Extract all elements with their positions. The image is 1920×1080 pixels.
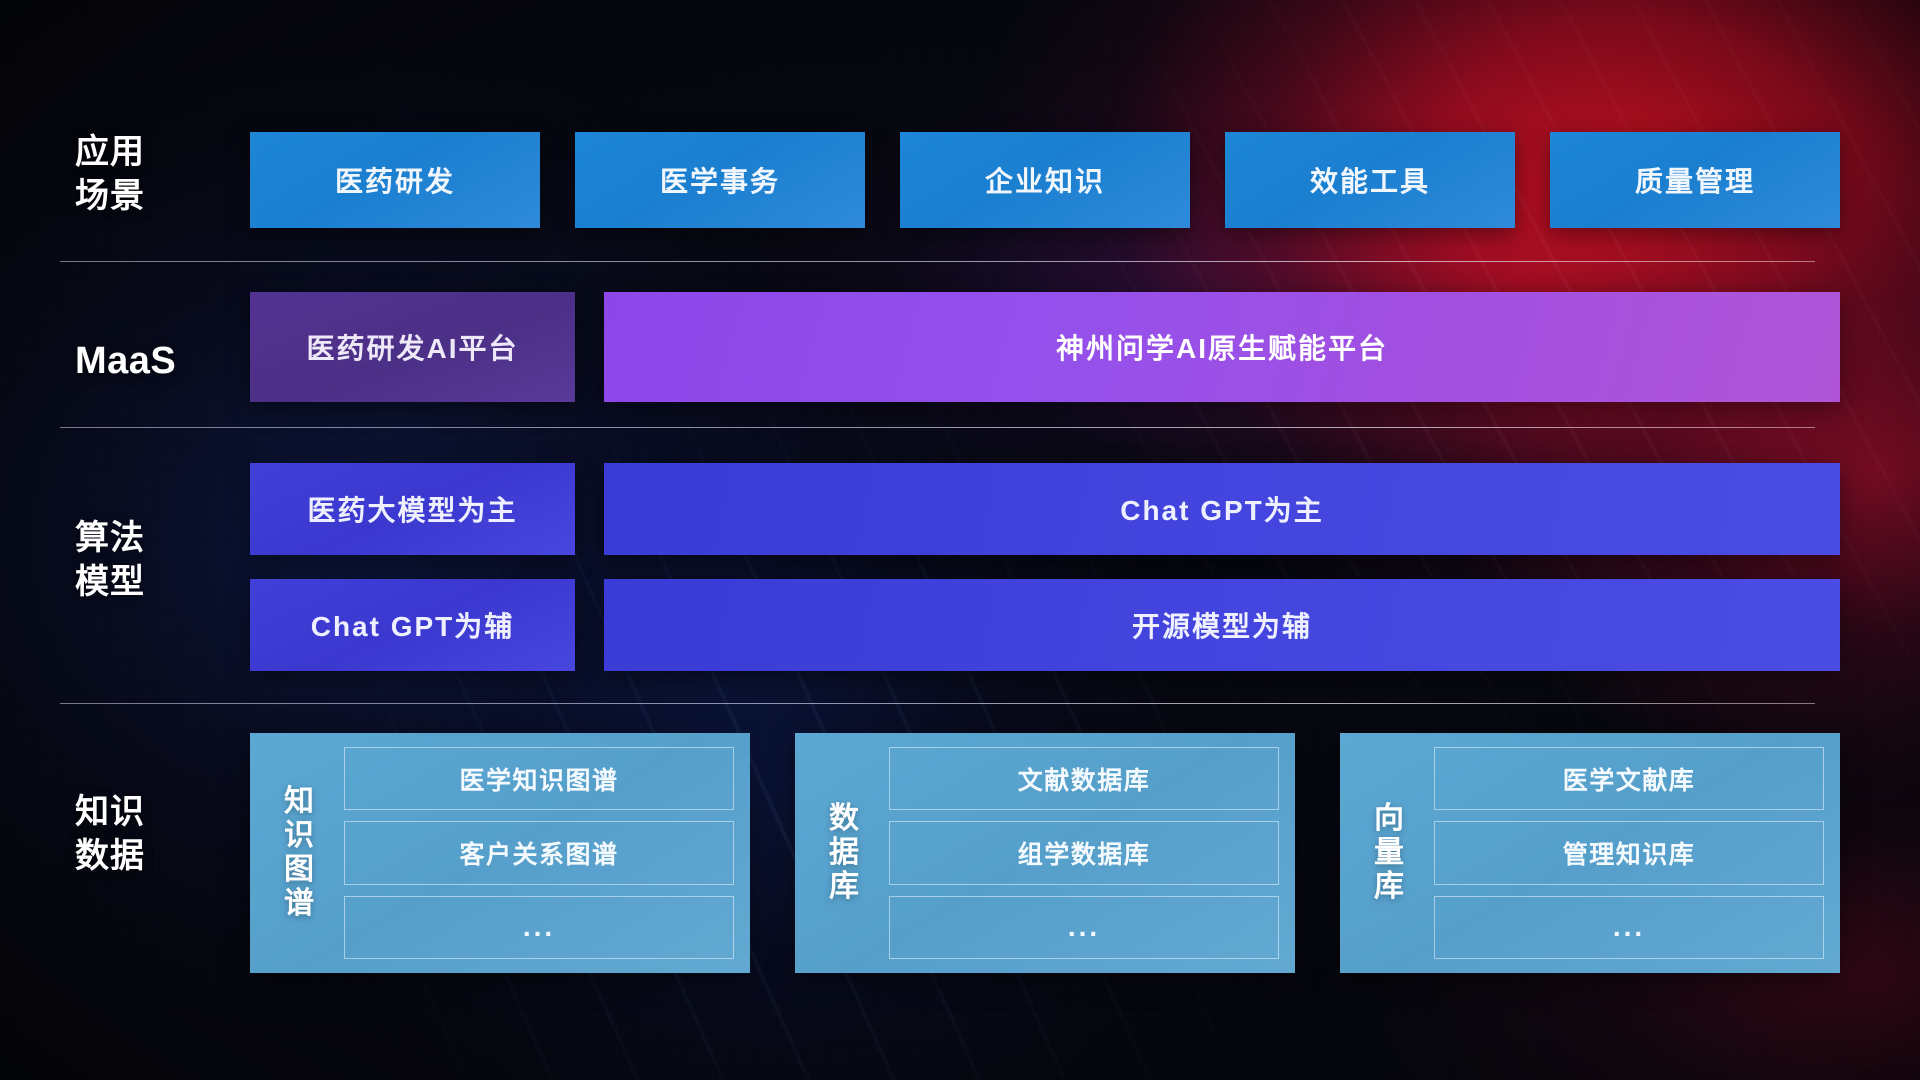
knowledge-item[interactable]: 组学数据库 <box>889 821 1279 884</box>
slide-canvas: 应用 场景 医药研发 医学事务 企业知识 效能工具 质量管理 MaaS 医药研发… <box>0 0 1920 1080</box>
knowledge-item[interactable]: 文献数据库 <box>889 747 1279 810</box>
app-box-label: 质量管理 <box>1635 160 1755 200</box>
knowledge-item[interactable]: 客户关系图谱 <box>344 821 734 884</box>
row-label-application-scenario: 应用 场景 <box>75 130 200 218</box>
knowledge-item[interactable]: 医学知识图谱 <box>344 747 734 810</box>
architecture-diagram: 应用 场景 医药研发 医学事务 企业知识 效能工具 质量管理 MaaS 医药研发… <box>0 0 1920 1080</box>
algo-box-label: Chat GPT为辅 <box>311 605 515 645</box>
algo-box-label: 开源模型为辅 <box>1132 605 1312 645</box>
algo-box-opensource-secondary[interactable]: 开源模型为辅 <box>604 579 1840 671</box>
app-box-label: 效能工具 <box>1310 160 1430 200</box>
knowledge-panel-vertical-label: 数 据 库 <box>817 802 871 905</box>
algo-box-pharma-llm-primary[interactable]: 医药大模型为主 <box>250 463 575 555</box>
knowledge-panel-items: 医学文献库 管理知识库 ... <box>1434 747 1824 959</box>
row-label-algorithm-model: 算法 模型 <box>75 516 200 604</box>
app-box-label: 企业知识 <box>985 160 1105 200</box>
app-box-drug-rd[interactable]: 医药研发 <box>250 132 540 228</box>
divider-after-algorithm <box>60 703 1815 704</box>
maas-box-label: 医药研发AI平台 <box>306 327 518 367</box>
algo-box-chatgpt-primary[interactable]: Chat GPT为主 <box>604 463 1840 555</box>
algo-box-label: Chat GPT为主 <box>1120 489 1324 529</box>
knowledge-item-more[interactable]: ... <box>889 896 1279 959</box>
maas-box-drug-rd-ai-platform[interactable]: 医药研发AI平台 <box>250 292 575 402</box>
knowledge-item-more[interactable]: ... <box>344 896 734 959</box>
knowledge-panel-items: 医学知识图谱 客户关系图谱 ... <box>344 747 734 959</box>
app-box-label: 医学事务 <box>660 160 780 200</box>
knowledge-item[interactable]: 管理知识库 <box>1434 821 1824 884</box>
app-box-label: 医药研发 <box>335 160 455 200</box>
algo-box-chatgpt-secondary[interactable]: Chat GPT为辅 <box>250 579 575 671</box>
algo-box-label: 医药大模型为主 <box>307 489 517 529</box>
knowledge-panel-database[interactable]: 数 据 库 文献数据库 组学数据库 ... <box>795 733 1295 973</box>
knowledge-panel-items: 文献数据库 组学数据库 ... <box>889 747 1279 959</box>
knowledge-item-more[interactable]: ... <box>1434 896 1824 959</box>
app-box-enterprise-knowledge[interactable]: 企业知识 <box>900 132 1190 228</box>
maas-box-label: 神州问学AI原生赋能平台 <box>1056 327 1388 367</box>
knowledge-panel-vector-store[interactable]: 向 量 库 医学文献库 管理知识库 ... <box>1340 733 1840 973</box>
row-label-maas: MaaS <box>75 337 200 386</box>
app-box-quality-management[interactable]: 质量管理 <box>1550 132 1840 228</box>
knowledge-panel-knowledge-graph[interactable]: 知 识 图 谱 医学知识图谱 客户关系图谱 ... <box>250 733 750 973</box>
row-label-knowledge-data: 知识 数据 <box>75 790 200 878</box>
app-box-medical-affairs[interactable]: 医学事务 <box>575 132 865 228</box>
divider-after-application <box>60 261 1815 262</box>
knowledge-panel-vertical-label: 知 识 图 谱 <box>272 785 326 922</box>
app-box-efficiency-tools[interactable]: 效能工具 <box>1225 132 1515 228</box>
knowledge-panel-vertical-label: 向 量 库 <box>1362 802 1416 905</box>
knowledge-item[interactable]: 医学文献库 <box>1434 747 1824 810</box>
maas-box-shenzhou-wenxue-platform[interactable]: 神州问学AI原生赋能平台 <box>604 292 1840 402</box>
divider-after-maas <box>60 427 1815 428</box>
